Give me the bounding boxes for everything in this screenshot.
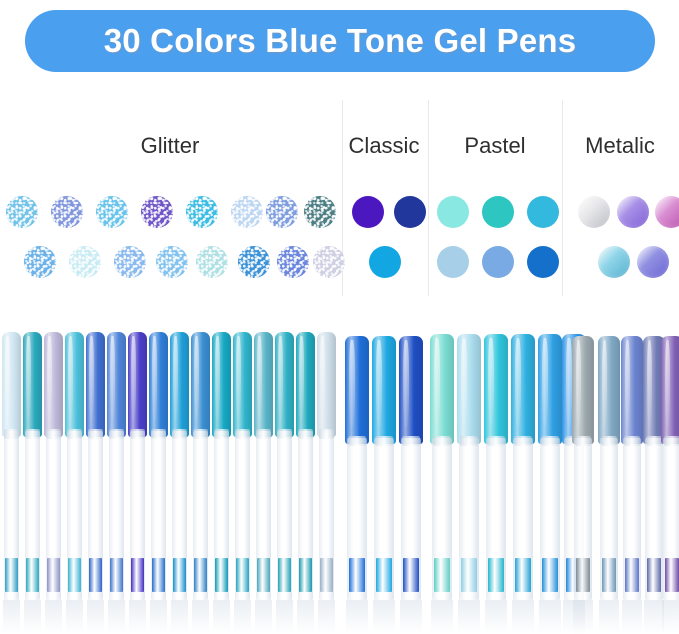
pen-ink — [602, 558, 617, 592]
swatch-metalic-row2-0 — [598, 246, 630, 278]
pen-grip — [256, 429, 270, 439]
pen-ink — [299, 558, 312, 592]
pen-reflection — [24, 600, 41, 634]
swatch-pastel-row1-1 — [482, 196, 514, 228]
swatch-glitter-row2-6 — [277, 246, 309, 278]
pen-glitter-12 — [254, 332, 273, 626]
product-image: 30 Colors Blue Tone Gel Pens GlitterClas… — [0, 0, 679, 626]
pen-grip — [319, 429, 333, 439]
pen-pastel-3 — [511, 334, 535, 626]
pen-grip — [601, 436, 618, 446]
pen-reflection — [622, 600, 641, 634]
pen-cap — [572, 336, 594, 444]
pen-reflection — [431, 600, 452, 634]
pen-cap — [484, 334, 508, 444]
swatch-metalic-row2-1 — [637, 246, 669, 278]
pen-cap — [275, 332, 294, 437]
pen-grip — [402, 436, 420, 446]
pen-glitter-15 — [317, 332, 336, 626]
pen-cap — [296, 332, 315, 437]
pen-glitter-0 — [2, 332, 21, 626]
pen-reflection — [171, 600, 188, 634]
pen-ink — [236, 558, 249, 592]
pen-reflection — [276, 600, 293, 634]
pen-cap — [317, 332, 336, 437]
pen-glitter-2 — [44, 332, 63, 626]
pen-grip — [375, 436, 393, 446]
pen-reflection — [485, 600, 506, 634]
pen-grip — [4, 429, 18, 439]
pen-glitter-7 — [149, 332, 168, 626]
pen-reflection — [318, 600, 335, 634]
pen-reflection — [87, 600, 104, 634]
pen-reflection — [662, 600, 679, 634]
swatch-pastel-row2-2 — [527, 246, 559, 278]
pen-cap — [511, 334, 535, 444]
pen-ink — [515, 558, 531, 592]
pen-reflection — [213, 600, 230, 634]
swatch-glitter-row2-2 — [114, 246, 146, 278]
pen-ink — [376, 558, 392, 592]
pen-reflection — [234, 600, 251, 634]
pen-grip — [541, 436, 559, 446]
pen-metalic-2 — [621, 336, 643, 626]
swatch-glitter-row1-7 — [304, 196, 336, 228]
pen-reflection — [255, 600, 272, 634]
pen-glitter-1 — [23, 332, 42, 626]
pen-classic-1 — [372, 336, 396, 626]
pen-grip — [433, 436, 451, 446]
pen-glitter-3 — [65, 332, 84, 626]
pen-ink — [665, 558, 679, 592]
pen-grip — [460, 436, 478, 446]
swatch-glitter-row1-3 — [141, 196, 173, 228]
pen-reflection — [66, 600, 83, 634]
category-label-glitter: Glitter — [141, 133, 200, 159]
pen-reflection — [599, 600, 618, 634]
pen-ink — [215, 558, 228, 592]
swatch-glitter-row2-0 — [24, 246, 56, 278]
pen-glitter-8 — [170, 332, 189, 626]
pen-grip — [193, 429, 207, 439]
title-banner: 30 Colors Blue Tone Gel Pens — [25, 10, 655, 72]
pen-ink — [26, 558, 39, 592]
pen-reflection — [458, 600, 479, 634]
category-label-pastel: Pastel — [464, 133, 525, 159]
divider-2 — [562, 100, 563, 296]
divider-1 — [428, 100, 429, 296]
swatch-pastel-row1-2 — [527, 196, 559, 228]
swatch-glitter-row1-1 — [51, 196, 83, 228]
pen-cap — [65, 332, 84, 437]
pen-reflection — [45, 600, 62, 634]
pen-grip — [46, 429, 60, 439]
pen-ink — [152, 558, 165, 592]
pen-ink — [542, 558, 558, 592]
category-label-classic: Classic — [349, 133, 420, 159]
pen-grip — [624, 436, 641, 446]
pen-reflection — [192, 600, 209, 634]
pen-grip — [214, 429, 228, 439]
pen-cap — [233, 332, 252, 437]
pen-ink — [434, 558, 450, 592]
pen-ink — [68, 558, 81, 592]
pen-ink — [403, 558, 419, 592]
pen-cap — [345, 336, 369, 444]
pen-reflection — [150, 600, 167, 634]
pen-ink — [47, 558, 60, 592]
pen-reflection — [297, 600, 314, 634]
pen-glitter-9 — [191, 332, 210, 626]
pen-cap — [372, 336, 396, 444]
pen-cap — [661, 336, 679, 444]
pen-ink — [461, 558, 477, 592]
swatch-metalic-row1-0 — [578, 196, 610, 228]
pen-cap — [128, 332, 147, 437]
pen-grip — [235, 429, 249, 439]
pen-glitter-10 — [212, 332, 231, 626]
pen-cap — [2, 332, 21, 437]
category-label-metalic: Metalic — [585, 133, 655, 159]
pen-ink — [257, 558, 270, 592]
pen-grip — [277, 429, 291, 439]
swatch-metalic-row1-2 — [655, 196, 679, 228]
pen-grip — [298, 429, 312, 439]
pen-glitter-4 — [86, 332, 105, 626]
pen-cap — [399, 336, 423, 444]
pen-cap — [621, 336, 643, 444]
pen-cap — [170, 332, 189, 437]
pen-metalic-1 — [598, 336, 620, 626]
pen-classic-0 — [345, 336, 369, 626]
pen-glitter-6 — [128, 332, 147, 626]
pen-pastel-0 — [430, 334, 454, 626]
pen-reflection — [129, 600, 146, 634]
pen-ink — [647, 558, 662, 592]
swatch-glitter-row2-5 — [238, 246, 270, 278]
pen-cap — [191, 332, 210, 437]
pen-ink — [320, 558, 333, 592]
pen-grip — [514, 436, 532, 446]
swatch-metalic-row1-1 — [617, 196, 649, 228]
pen-classic-2 — [399, 336, 423, 626]
pen-reflection — [108, 600, 125, 634]
pen-grip — [664, 436, 679, 446]
pen-cap — [538, 334, 562, 444]
pen-grip — [88, 429, 102, 439]
banner-title: 30 Colors Blue Tone Gel Pens — [104, 22, 577, 60]
swatch-classic-row1-1 — [394, 196, 426, 228]
pen-glitter-11 — [233, 332, 252, 626]
swatch-glitter-row2-4 — [196, 246, 228, 278]
pen-glitter-5 — [107, 332, 126, 626]
pen-grip — [67, 429, 81, 439]
pen-grip — [151, 429, 165, 439]
pen-reflection — [539, 600, 560, 634]
swatch-glitter-row2-3 — [156, 246, 188, 278]
pen-cap — [23, 332, 42, 437]
pen-metalic-0 — [572, 336, 594, 626]
swatch-pastel-row2-0 — [437, 246, 469, 278]
pen-grip — [487, 436, 505, 446]
pen-ink — [488, 558, 504, 592]
pen-reflection — [400, 600, 421, 634]
swatch-pastel-row1-0 — [437, 196, 469, 228]
pen-cap — [86, 332, 105, 437]
pen-ink — [625, 558, 640, 592]
pen-ink — [131, 558, 144, 592]
pen-cap — [254, 332, 273, 437]
swatch-glitter-row1-0 — [6, 196, 38, 228]
pen-pastel-2 — [484, 334, 508, 626]
pen-grip — [646, 436, 663, 446]
pen-cap — [212, 332, 231, 437]
pen-grip — [348, 436, 366, 446]
pen-glitter-14 — [296, 332, 315, 626]
pen-ink — [278, 558, 291, 592]
pen-cap — [598, 336, 620, 444]
swatch-glitter-row1-6 — [266, 196, 298, 228]
pen-ink — [110, 558, 123, 592]
swatch-glitter-row1-5 — [231, 196, 263, 228]
pen-reflection — [573, 600, 592, 634]
pen-pastel-4 — [538, 334, 562, 626]
pen-cap — [430, 334, 454, 444]
pen-grip — [130, 429, 144, 439]
pen-cap — [107, 332, 126, 437]
pen-cap — [149, 332, 168, 437]
pen-cap — [44, 332, 63, 437]
pen-cap — [457, 334, 481, 444]
pen-reflection — [3, 600, 20, 634]
pen-reflection — [512, 600, 533, 634]
pen-metalic-4 — [661, 336, 679, 626]
pen-glitter-13 — [275, 332, 294, 626]
pen-pastel-1 — [457, 334, 481, 626]
swatch-glitter-row2-1 — [69, 246, 101, 278]
pen-ink — [576, 558, 591, 592]
swatch-glitter-row2-7 — [313, 246, 345, 278]
pen-grip — [109, 429, 123, 439]
pen-grip — [172, 429, 186, 439]
swatch-glitter-row1-4 — [186, 196, 218, 228]
pen-ink — [173, 558, 186, 592]
pen-reflection — [346, 600, 367, 634]
pen-ink — [5, 558, 18, 592]
swatch-pastel-row2-1 — [482, 246, 514, 278]
swatch-classic-row2-0 — [369, 246, 401, 278]
pen-grip — [25, 429, 39, 439]
swatch-classic-row1-0 — [352, 196, 384, 228]
pen-reflection — [373, 600, 394, 634]
pen-grip — [575, 436, 592, 446]
swatch-glitter-row1-2 — [96, 196, 128, 228]
pen-ink — [349, 558, 365, 592]
pen-ink — [194, 558, 207, 592]
pen-ink — [89, 558, 102, 592]
